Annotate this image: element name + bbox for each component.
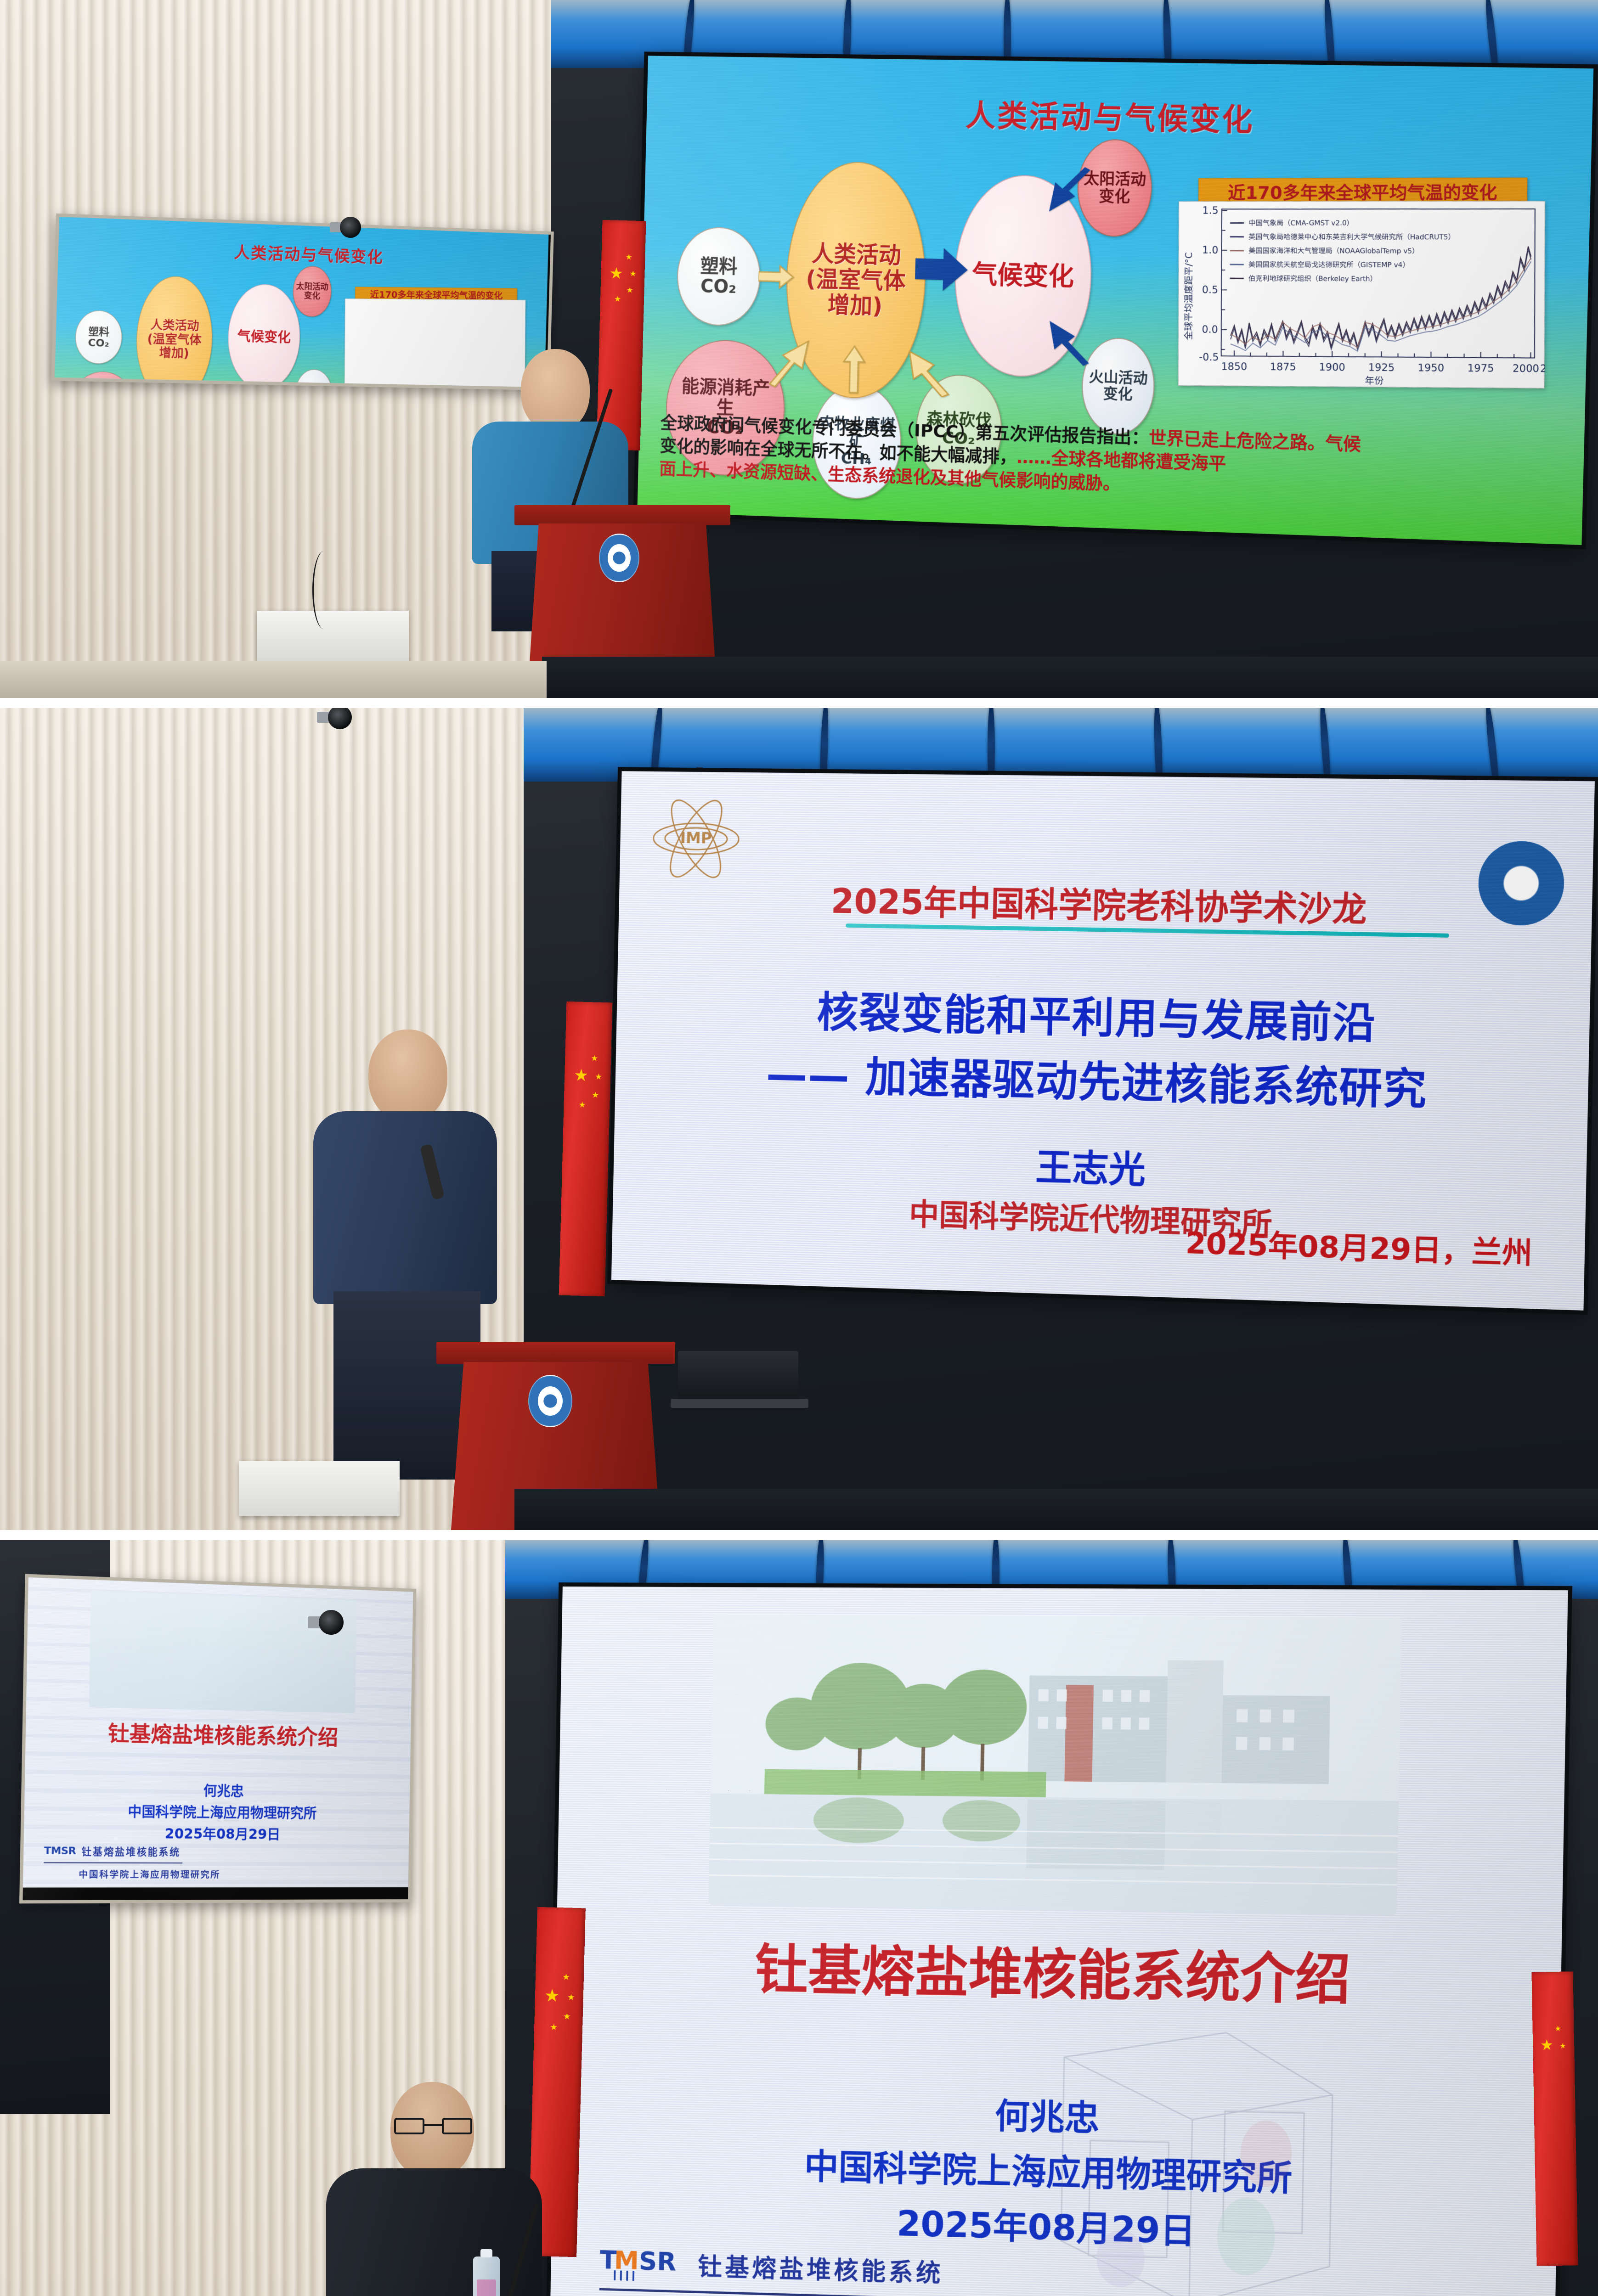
preview-climate-label: 气候变化 (237, 329, 291, 345)
slide-date-place: 2025年08月29日，兰州 (1185, 1220, 1533, 1272)
imp-logo-icon: IMP (644, 793, 748, 885)
temperature-chart-card: 1.5 1.0 0.5 0.0 -0.5 (1178, 201, 1545, 388)
imp-logo-text: IMP (680, 829, 712, 847)
speaker-glasses-panel3 (394, 2118, 472, 2134)
tmsr-logo-chinese: 钍基熔盐堆核能系统 (698, 2246, 944, 2289)
main-led-screen-panel3: 钍基熔盐堆核能系统介绍 何兆忠 中国科学院上海应用物理研究所 2025年08月2… (549, 1587, 1568, 2296)
panel-climate-lecture: 人类活动与气候变化 塑料 CO₂ 能源消耗产生 CO₂ 农牧业废煤矿 CH₄ 森… (0, 0, 1598, 698)
panel-divider-1 (0, 698, 1598, 708)
tmsr-logo-icon: T M SR (599, 2242, 685, 2283)
svg-text:1850: 1850 (1221, 361, 1248, 373)
ceiling-camera-panel2 (317, 708, 356, 730)
preview-logo-rule (44, 1862, 182, 1863)
svg-text:1.5: 1.5 (1202, 205, 1218, 216)
main-led-screen-panel1: 人类活动与气候变化 塑料 CO₂ 能源消耗产生 CO₂ 农牧业废煤矿 CH₄ 森… (637, 56, 1593, 545)
panel-nuclear-lecture: IMP 2025年中国科学院老科协学术沙龙 核裂变能和平利用与发展前沿 —— 加… (0, 708, 1598, 1530)
laptop-panel2 (671, 1351, 808, 1415)
slide-thorium-title: 钍基熔盐堆核能系统介绍 何兆忠 中国科学院上海应用物理研究所 2025年08月2… (549, 1587, 1568, 2296)
svg-text:0.5: 0.5 (1202, 284, 1218, 296)
av-equipment-box-panel1 (257, 611, 409, 661)
av-equipment-box-panel2 (239, 1461, 400, 1516)
svg-text:中国气象局（CMA-GMST v2.0）: 中国气象局（CMA-GMST v2.0） (1248, 219, 1354, 227)
preview-bubble-human: 人类活动(温室气体增加) (135, 275, 214, 387)
campus-photo (709, 1614, 1402, 1915)
water-bottle-panel3 (473, 2257, 500, 2296)
svg-text:SR: SR (639, 2246, 677, 2277)
preview-bubble-plastic: 塑料 CO₂ (74, 310, 123, 364)
preview-tmsr-cn: 钍基熔盐堆核能系统 (81, 1844, 181, 1858)
svg-text:1925: 1925 (1368, 362, 1395, 374)
bubble-plastic-formula: CO₂ (700, 276, 737, 298)
speaker-head-panel1 (521, 349, 590, 432)
preview-slide-thorium: 钍基熔盐堆核能系统介绍 何兆忠 中国科学院上海应用物理研究所 2025年08月2… (23, 1577, 413, 1888)
podium-emblem-panel1 (599, 534, 639, 582)
svg-text:全球平均温度距平/°C: 全球平均温度距平/°C (1183, 252, 1194, 340)
preview-tmsr-logo-row: TMSR 钍基熔盐堆核能系统 (44, 1844, 181, 1858)
bubble-volcanic-activity: 火山活动变化 (1081, 337, 1156, 436)
preview-tmsr-date: 2025年08月29日 (24, 1822, 413, 1844)
main-led-screen-panel2: IMP 2025年中国科学院老科协学术沙龙 核裂变能和平利用与发展前沿 —— 加… (611, 771, 1595, 1311)
svg-text:-0.5: -0.5 (1199, 352, 1219, 364)
left-preview-monitor-panel3: 钍基熔盐堆核能系统介绍 何兆忠 中国科学院上海应用物理研究所 2025年08月2… (19, 1574, 416, 1904)
slide-nuclear-title: IMP 2025年中国科学院老科协学术沙龙 核裂变能和平利用与发展前沿 —— 加… (611, 771, 1595, 1311)
arrow-solar-to-climate (1046, 167, 1093, 223)
slide-climate-change: 人类活动与气候变化 塑料 CO₂ 能源消耗产生 CO₂ 农牧业废煤矿 CH₄ 森… (637, 56, 1593, 545)
arrow-agri-to-human (841, 344, 868, 395)
svg-text:1900: 1900 (1319, 361, 1345, 373)
svg-text:0.0: 0.0 (1202, 324, 1218, 336)
bubble-climate-label: 气候变化 (972, 260, 1074, 292)
slide-title: 人类活动与气候变化 (646, 86, 1592, 146)
arrow-volcano-to-climate (1046, 311, 1093, 367)
speaker-jacket-panel3 (326, 2168, 542, 2296)
bubble-plastic: 塑料 CO₂ (676, 226, 762, 326)
arrow-energy-to-human (766, 329, 817, 389)
svg-text:美国国家海洋和大气管理局（NOAAGlobalTemp v5: 美国国家海洋和大气管理局（NOAAGlobalTemp v5） (1248, 247, 1419, 255)
svg-text:1975: 1975 (1468, 362, 1494, 374)
preview-plastic-formula: CO₂ (88, 337, 109, 349)
preview-tmsr-mark: TMSR (44, 1845, 76, 1857)
bubble-plastic-label: 塑料 (700, 255, 738, 277)
stage-front-panel1 (542, 657, 1598, 698)
preview-tmsr-org: 中国科学院上海应用物理研究所 (24, 1800, 413, 1823)
preview-plastic-label: 塑料 (88, 326, 109, 338)
svg-text:1950: 1950 (1417, 362, 1444, 374)
svg-text:1875: 1875 (1270, 361, 1296, 373)
ceiling-light-panel-2 (524, 708, 1598, 782)
svg-text:伯克利地球研究组织（Berkeley Earth）: 伯克利地球研究组织（Berkeley Earth） (1248, 275, 1377, 283)
preview-tmsr-title: 钍基熔盐堆核能系统介绍 (25, 1714, 413, 1752)
panel-thorium-lecture: 钍基熔盐堆核能系统介绍 何兆忠 中国科学院上海应用物理研究所 2025年08月2… (0, 1540, 1598, 2296)
svg-text:1.0: 1.0 (1202, 245, 1218, 256)
chinese-flag-panel2: ★ ★ ★ ★ ★ (559, 1002, 613, 1296)
podium-emblem-panel2 (528, 1375, 572, 1427)
preview-human-label: 人类活动(温室气体增加) (141, 318, 208, 360)
svg-text:英国气象局哈德莱中心和东英吉利大学气候研究所（HadCRUT: 英国气象局哈德莱中心和东英吉利大学气候研究所（HadCRUT5） (1248, 233, 1455, 242)
chart-banner-text: 近170多年来全球平均气温的变化 (1228, 182, 1497, 203)
ceiling-camera-panel3 (308, 1609, 347, 1636)
panel-divider-2 (0, 1530, 1598, 1540)
preview-tmsr-author: 何兆忠 (24, 1778, 413, 1802)
speaker-torso-panel2 (313, 1111, 497, 1304)
chinese-flag-right-panel3: ★ ★ ★ (1531, 1971, 1578, 2266)
preview-slide-title: 人类活动与气候变化 (58, 233, 548, 272)
temperature-chart-svg: 1.5 1.0 0.5 0.0 -0.5 (1179, 202, 1546, 389)
stage-front-panel2 (514, 1489, 1598, 1530)
bubble-volcano-label: 火山活动变化 (1082, 369, 1154, 404)
logo-divider-rule (599, 2288, 941, 2296)
arrow-forest-to-human (903, 341, 954, 397)
preview-sinap-cn: 中国科学院上海应用物理研究所 (79, 1868, 220, 1881)
speaker-head-panel2 (368, 1030, 447, 1121)
tmsr-logo-row: T M SR 钍基熔盐堆核能系统 (599, 2242, 944, 2290)
svg-text:202: 202 (1540, 363, 1546, 375)
bubble-human-label: 人类活动(温室气体增加) (795, 241, 917, 320)
front-table-panel1 (0, 661, 547, 698)
preview-sinap-row: 中国科学院上海应用物理研究所 (79, 1868, 220, 1881)
svg-text:美国国家航天航空局戈达德研究所（GISTEMP v4）: 美国国家航天航空局戈达德研究所（GISTEMP v4） (1248, 260, 1410, 269)
ipcc-note: 全球政府间气候变化专门委员会（IPCC）第五次评估报告指出：世界已走上危险之路。… (659, 411, 1569, 511)
arrow-human-to-climate (915, 244, 969, 295)
photo-collage: 人类活动与气候变化 塑料 CO₂ 能源消耗产生 CO₂ 农牧业废煤矿 CH₄ 森… (0, 0, 1598, 2296)
campus-photo-svg (709, 1614, 1402, 1915)
reactor-schematic-watermark (1005, 2001, 1362, 2296)
preview-bubble-climate: 气候变化 (226, 283, 301, 388)
ceiling-camera-panel1 (330, 216, 366, 239)
preview-bubble-solar: 太阳活动变化 (292, 265, 332, 317)
svg-text:年份: 年份 (1365, 375, 1383, 386)
cable-panel1 (312, 551, 335, 629)
preview-solar-label: 太阳活动变化 (293, 282, 331, 301)
arrow-plastic-to-human (758, 263, 795, 291)
slide-header: 2025年中国科学院老科协学术沙龙 (619, 871, 1592, 935)
svg-text:2000: 2000 (1513, 363, 1539, 375)
